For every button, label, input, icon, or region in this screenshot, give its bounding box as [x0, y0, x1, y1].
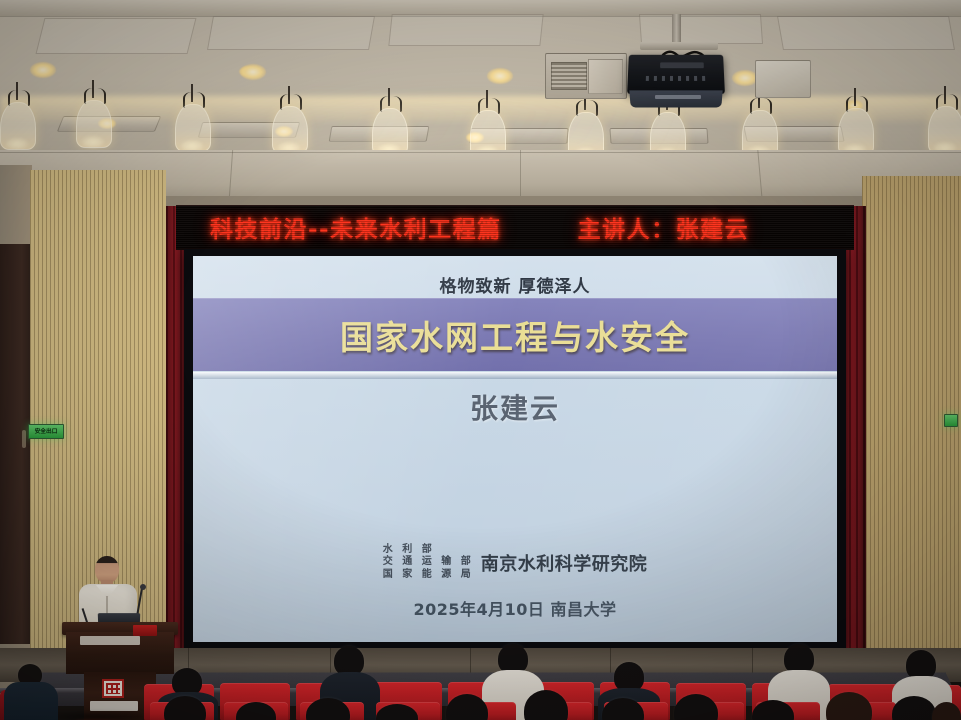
speaker-head [95, 556, 119, 583]
ac-face-panel [588, 59, 623, 94]
lecture-hall-photo: 安全出口 科技前沿--未来水利工程篇 主讲人：张建云 格物致新 厚德泽人 国家水… [0, 0, 961, 720]
slide-motto: 格物致新 厚德泽人 [193, 272, 837, 297]
ceiling-panel [777, 16, 955, 50]
slide-title-band: 国家水网工程与水安全 [193, 298, 837, 371]
podium-nameplate [80, 636, 140, 645]
slide-divider [193, 372, 837, 379]
projector [627, 55, 725, 94]
exit-sign-left-icon: 安全出口 [28, 424, 64, 439]
led-banner: 科技前沿--未来水利工程篇 主讲人：张建云 [176, 205, 854, 250]
ceiling-panel [388, 14, 543, 46]
exit-sign-left-label: 安全出口 [35, 429, 58, 435]
downlight [487, 68, 513, 84]
slide-institute: 南京水利科学研究院 [481, 550, 648, 576]
slide-author: 张建云 [193, 387, 837, 427]
affiliation-1: 水 利 部 [383, 544, 474, 557]
ceiling-panel [639, 14, 763, 44]
downlight [240, 64, 266, 80]
ceiling-panel [36, 18, 197, 54]
led-banner-title: 科技前沿--未来水利工程篇 [210, 210, 502, 244]
led-banner-speaker: 主讲人：张建云 [578, 210, 750, 244]
projector-vents [646, 76, 706, 81]
audience-area [0, 672, 961, 720]
slide-footer: 水 利 部 交 通 运 输 部 国 家 能 源 局 南京水利科学研究院 2025… [193, 544, 837, 620]
slide-affiliations: 水 利 部 交 通 运 输 部 国 家 能 源 局 南京水利科学研究院 [193, 544, 837, 582]
left-doorway [0, 244, 31, 644]
projection-screen-frame: 格物致新 厚德泽人 国家水网工程与水安全 张建云 水 利 部 交 通 运 输 部… [184, 249, 846, 649]
ceiling-panel [207, 16, 375, 50]
ac-grille [551, 62, 587, 90]
downlight [30, 62, 56, 78]
podium-red-plate [133, 625, 157, 636]
ceiling-air-conditioner [545, 53, 627, 99]
door-handle[interactable] [22, 430, 26, 448]
affiliation-2: 交 通 运 输 部 [383, 556, 474, 569]
projected-slide: 格物致新 厚德泽人 国家水网工程与水安全 张建云 水 利 部 交 通 运 输 部… [193, 256, 837, 642]
exit-sign-right-icon [944, 414, 958, 427]
wall-speaker [755, 60, 811, 98]
slide-title: 国家水网工程与水安全 [340, 311, 690, 359]
microphone-head [140, 584, 146, 590]
slide-date-venue: 2025年4月10日 南昌大学 [193, 596, 837, 620]
projector-brand-label [655, 95, 701, 99]
projector-top-panel [660, 62, 704, 68]
affiliation-3: 国 家 能 源 局 [383, 569, 474, 582]
